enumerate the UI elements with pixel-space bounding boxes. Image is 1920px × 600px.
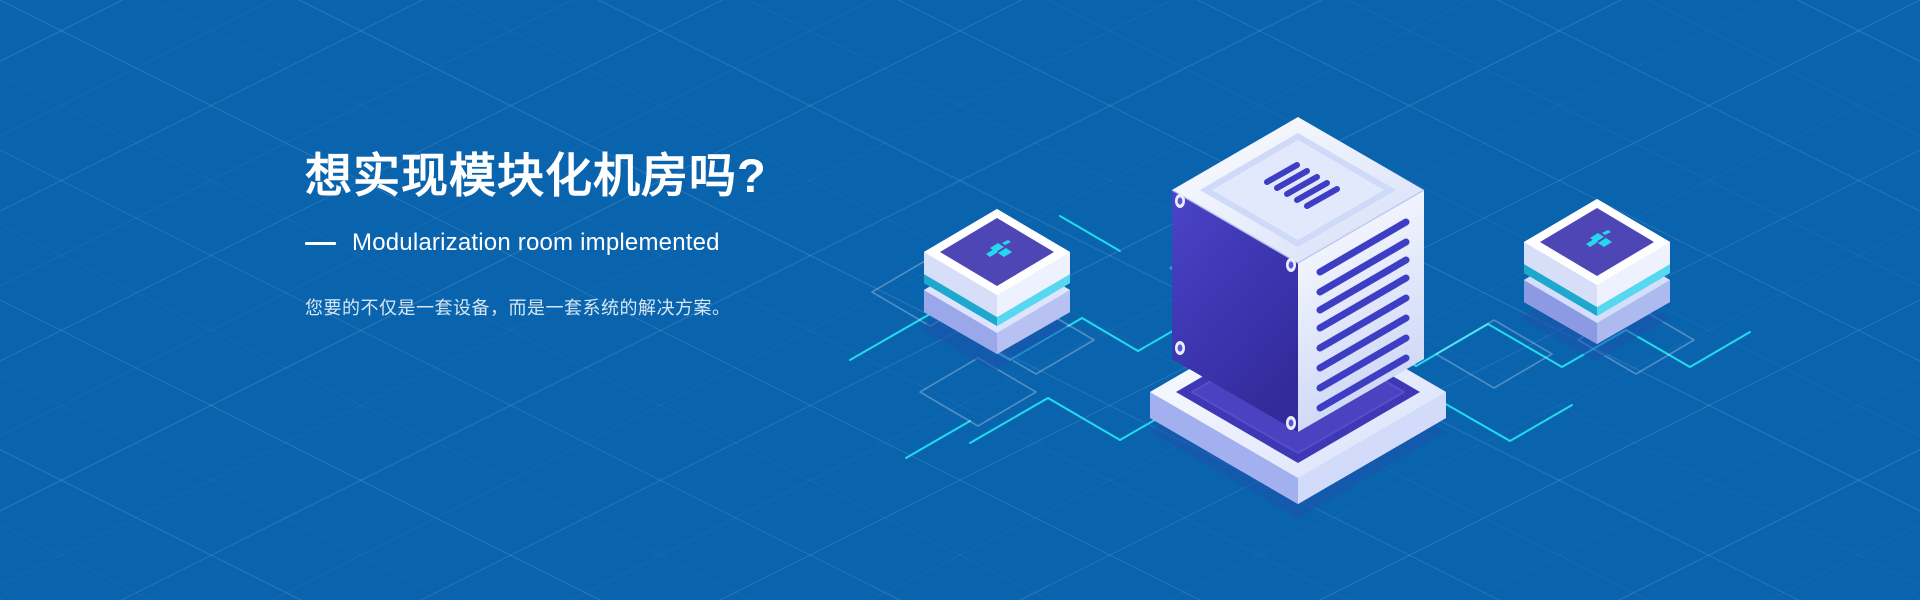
hero-banner: 想实现模块化机房吗? Modularization room implement… [0,0,1920,600]
hero-description: 您要的不仅是一套设备，而是一套系统的解决方案。 [305,293,1065,324]
subtitle-dash-icon [305,242,336,245]
subtitle-row: Modularization room implemented [305,229,1065,257]
page-title: 想实现模块化机房吗? [305,148,1065,203]
hero-copy-block: 想实现模块化机房吗? Modularization room implement… [305,148,1065,324]
page-subtitle: Modularization room implemented [352,229,720,257]
